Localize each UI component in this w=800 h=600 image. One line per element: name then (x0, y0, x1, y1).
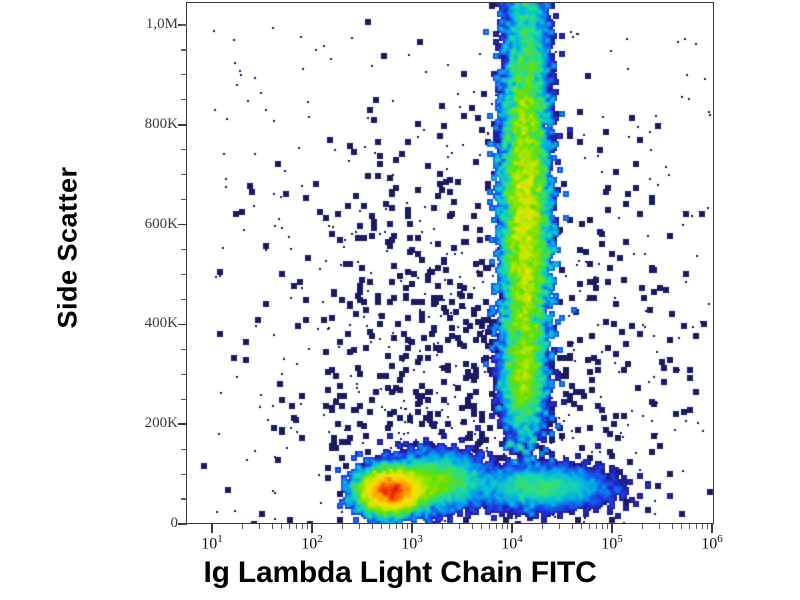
x-minor-tick (572, 524, 573, 529)
x-tick-label: 106 (677, 533, 747, 553)
x-tick-label: 102 (277, 533, 347, 553)
x-major-tick (511, 524, 513, 533)
y-tick-label: 800K (108, 116, 178, 133)
y-tick-label: 1,0M (108, 16, 178, 33)
x-minor-tick (289, 524, 290, 529)
x-minor-tick (689, 524, 690, 529)
x-minor-tick (442, 524, 443, 529)
x-minor-tick (672, 524, 673, 529)
x-minor-tick (259, 524, 260, 529)
y-major-tick (178, 523, 187, 525)
x-minor-tick (596, 524, 597, 529)
x-major-tick (411, 524, 413, 533)
x-minor-tick (242, 524, 243, 529)
x-tick-label: 105 (577, 533, 647, 553)
x-minor-tick (407, 524, 408, 529)
x-minor-tick (381, 524, 382, 529)
y-axis-tick-labels: 0200K400K600K800K1,0M (104, 0, 178, 530)
y-minor-tick (181, 374, 187, 375)
x-minor-tick (296, 524, 297, 529)
y-minor-tick (181, 399, 187, 400)
x-major-tick (211, 524, 213, 533)
x-minor-tick (589, 524, 590, 529)
x-minor-tick (659, 524, 660, 529)
x-minor-tick (459, 524, 460, 529)
density-scatter-canvas[interactable] (187, 3, 714, 524)
x-tick-label: 103 (377, 533, 447, 553)
y-tick-label: 200K (108, 415, 178, 432)
x-major-tick (711, 524, 713, 533)
x-minor-tick (481, 524, 482, 529)
x-minor-tick (496, 524, 497, 529)
x-minor-tick (642, 524, 643, 529)
x-minor-tick (272, 524, 273, 529)
x-tick-label: 101 (177, 533, 247, 553)
x-minor-tick (607, 524, 608, 529)
x-minor-tick (359, 524, 360, 529)
x-axis-title: Ig Lambda Light Chain FITC (0, 556, 800, 590)
x-minor-tick (602, 524, 603, 529)
x-minor-tick (707, 524, 708, 529)
y-major-tick (178, 324, 187, 326)
y-tick-label: 400K (108, 315, 178, 332)
x-minor-tick (342, 524, 343, 529)
y-major-tick (178, 124, 187, 126)
flow-cytometry-figure: 0200K400K600K800K1,0M 101102103104105106… (0, 0, 800, 600)
x-minor-tick (507, 524, 508, 529)
y-major-tick (178, 224, 187, 226)
y-tick-label: 600K (108, 216, 178, 233)
y-minor-tick (181, 274, 187, 275)
x-minor-tick (559, 524, 560, 529)
x-minor-tick (372, 524, 373, 529)
y-minor-tick (181, 149, 187, 150)
x-minor-tick (402, 524, 403, 529)
x-minor-tick (681, 524, 682, 529)
y-axis-title: Side Scatter (53, 128, 84, 368)
y-minor-tick (181, 498, 187, 499)
x-minor-tick (702, 524, 703, 529)
y-major-tick (178, 423, 187, 425)
scatter-plot-area[interactable] (186, 2, 714, 524)
x-minor-tick (307, 524, 308, 529)
x-minor-tick (489, 524, 490, 529)
x-tick-label: 104 (477, 533, 547, 553)
x-major-tick (611, 524, 613, 533)
y-minor-tick (181, 49, 187, 50)
x-minor-tick (396, 524, 397, 529)
x-major-tick (311, 524, 313, 533)
x-minor-tick (281, 524, 282, 529)
y-minor-tick (181, 249, 187, 250)
y-minor-tick (181, 174, 187, 175)
x-minor-tick (389, 524, 390, 529)
y-minor-tick (181, 449, 187, 450)
x-minor-tick (581, 524, 582, 529)
y-tick-label: 0 (108, 515, 178, 532)
y-minor-tick (181, 299, 187, 300)
y-minor-tick (181, 99, 187, 100)
y-minor-tick (181, 199, 187, 200)
x-minor-tick (502, 524, 503, 529)
y-minor-tick (181, 74, 187, 75)
y-minor-tick (181, 349, 187, 350)
y-minor-tick (181, 24, 187, 25)
x-minor-tick (302, 524, 303, 529)
x-minor-tick (472, 524, 473, 529)
x-minor-tick (696, 524, 697, 529)
y-minor-tick (181, 474, 187, 475)
x-minor-tick (542, 524, 543, 529)
